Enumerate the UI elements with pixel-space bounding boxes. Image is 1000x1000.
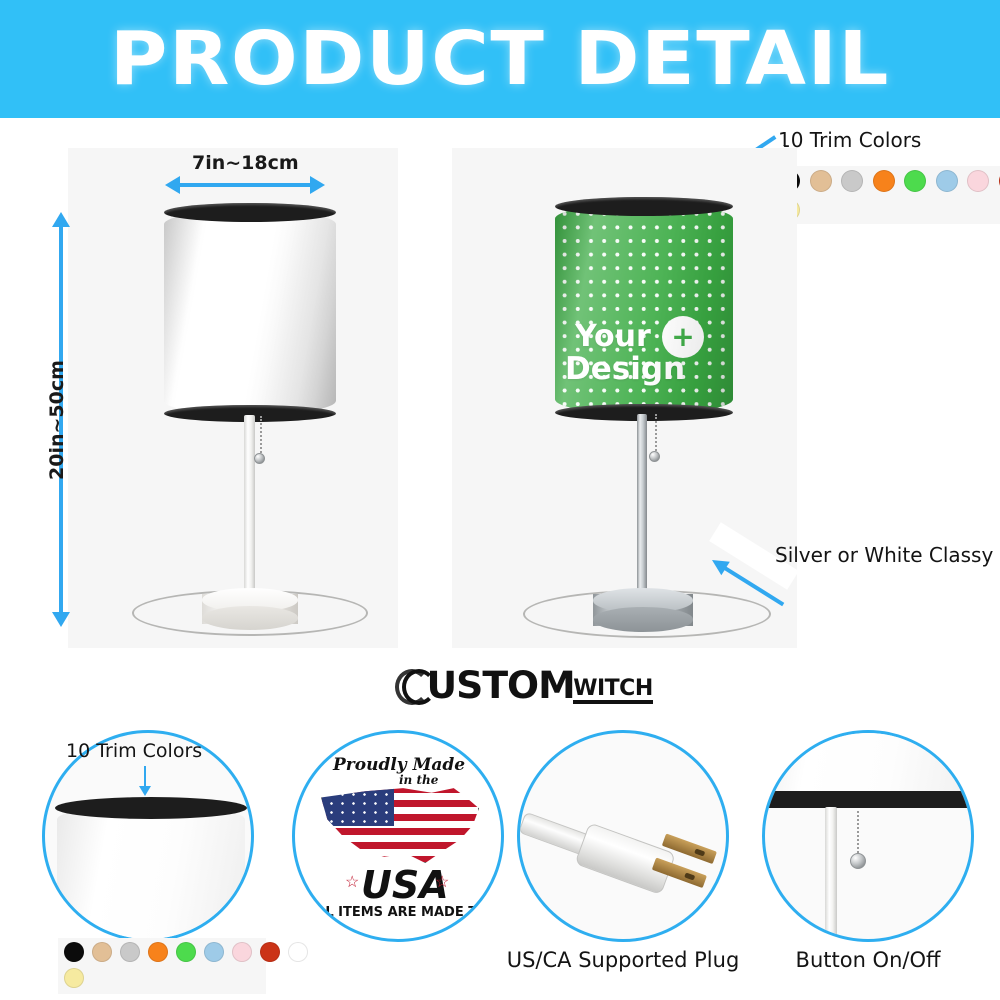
- arrow-head-bottom-icon: [52, 612, 70, 627]
- plus-icon: +: [671, 323, 694, 351]
- pull-chain-closeup[interactable]: [857, 811, 859, 857]
- swatch-green[interactable]: [176, 942, 196, 962]
- feature-made-in-usa: Proudly Made in the ☆ USA ☆ ALL ITEMS AR…: [292, 730, 504, 942]
- width-dimension-arrow: [165, 176, 325, 194]
- star-right-icon: ☆: [435, 875, 449, 891]
- bottom-swatch-row-2: [64, 968, 84, 988]
- design-text-line-2: Design: [565, 354, 685, 384]
- feature-switch-label: Button On/Off: [760, 948, 976, 972]
- height-dimension-label: 20in~50cm: [46, 360, 68, 480]
- lamp-pole: [244, 415, 255, 605]
- white-lamp-shade: [164, 210, 336, 415]
- feature-trim-colors-inner-label: 10 Trim Colors: [66, 740, 202, 762]
- design-text-line-1: Your: [575, 322, 651, 351]
- pull-chain[interactable]: [655, 414, 657, 454]
- trim-colors-swatch-row-1: [778, 170, 1000, 192]
- lamp-pole-closeup: [825, 807, 837, 942]
- pull-chain-ball[interactable]: [649, 451, 660, 462]
- arrow-tip-icon: [139, 786, 151, 796]
- base-finish-callout: Silver or White Classy: [775, 543, 993, 567]
- feature-circle: [517, 730, 729, 942]
- feature-switch: Button On/Off: [762, 730, 974, 942]
- lamp-base: [593, 588, 693, 632]
- usa-script-line-1: Proudly Made: [333, 755, 465, 775]
- swatch-yellow[interactable]: [64, 968, 84, 988]
- swatch-pink[interactable]: [967, 170, 989, 192]
- feature-plug-label: US/CA Supported Plug: [505, 948, 741, 972]
- flag-stars: [322, 786, 394, 826]
- trim-down-arrow: [137, 766, 153, 796]
- brand-logo: USTOM WITCH: [395, 664, 653, 707]
- pull-chain-ball[interactable]: [254, 453, 265, 464]
- flag-canton: [322, 786, 394, 826]
- width-dimension-label: 7in~18cm: [192, 152, 299, 174]
- usa-subtext: ALL ITEMS ARE MADE TO ORDER!: [307, 905, 504, 920]
- logo-sub-text: WITCH: [573, 677, 653, 704]
- bottom-swatch-row-1: [64, 942, 308, 962]
- lamp-base: [202, 588, 298, 630]
- trim-closeup: [55, 797, 247, 819]
- base-bottom: [202, 606, 298, 630]
- trim-closeup: [762, 791, 974, 808]
- logo-main-text: USTOM: [427, 664, 575, 707]
- swatch-light-blue[interactable]: [936, 170, 958, 192]
- swatch-white[interactable]: [288, 942, 308, 962]
- shade-trim-top: [555, 197, 733, 216]
- swatch-tan[interactable]: [810, 170, 832, 192]
- header-banner: PRODUCT DETAIL: [0, 0, 1000, 118]
- swatch-red[interactable]: [260, 942, 280, 962]
- usa-map-icon: [321, 785, 479, 863]
- green-lamp-shade: Your + Design: [555, 204, 733, 414]
- page-title: PRODUCT DETAIL: [110, 16, 890, 102]
- shade-trim-top: [164, 203, 336, 222]
- swatch-black[interactable]: [64, 942, 84, 962]
- pull-chain[interactable]: [260, 416, 262, 456]
- shade-closeup: [57, 805, 245, 942]
- swatch-pink[interactable]: [232, 942, 252, 962]
- feature-trim-colors: 10 Trim Colors: [42, 730, 254, 942]
- swatch-orange[interactable]: [873, 170, 895, 192]
- arrow-head-right-icon: [310, 176, 325, 194]
- shade-surface: Your + Design: [555, 204, 733, 414]
- pull-chain-ball-closeup[interactable]: [850, 853, 866, 869]
- shade-gloss: [164, 210, 336, 415]
- feature-circle: [762, 730, 974, 942]
- swatch-green[interactable]: [904, 170, 926, 192]
- shade-surface: [164, 210, 336, 415]
- swatch-light-blue[interactable]: [204, 942, 224, 962]
- shade-bottom-closeup: [762, 730, 974, 793]
- feature-plug: US/CA Supported Plug: [517, 730, 729, 942]
- swatch-orange[interactable]: [148, 942, 168, 962]
- feature-circle: Proudly Made in the ☆ USA ☆ ALL ITEMS AR…: [292, 730, 504, 942]
- swatch-gray[interactable]: [120, 942, 140, 962]
- lamp-pole: [637, 414, 647, 606]
- product-detail-page: PRODUCT DETAIL 10 Trim Colors 7in~18cm 2…: [0, 0, 1000, 1000]
- swatch-gray[interactable]: [841, 170, 863, 192]
- arrow-bar: [177, 183, 313, 187]
- trim-colors-heading: 10 Trim Colors: [778, 128, 921, 152]
- swatch-tan[interactable]: [92, 942, 112, 962]
- star-left-icon: ☆: [345, 875, 359, 891]
- base-bottom: [593, 607, 693, 632]
- arrow-shaft: [144, 766, 147, 788]
- white-lamp: [150, 200, 350, 640]
- usa-script-line-2: in the: [399, 773, 438, 787]
